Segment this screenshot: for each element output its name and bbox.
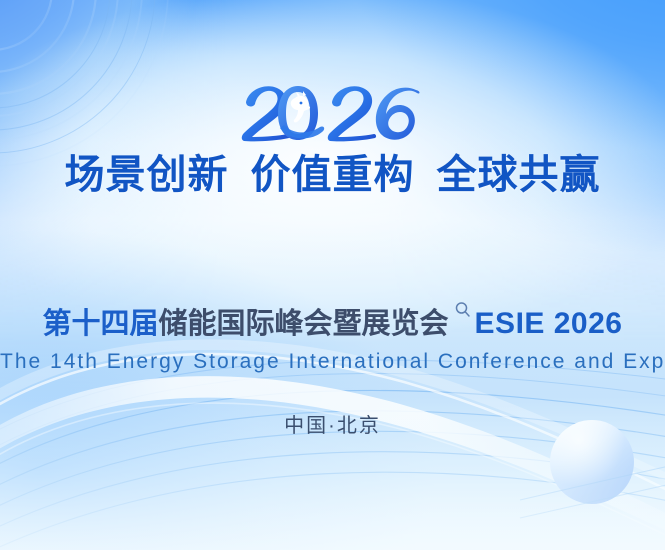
conference-title: 第十四届储能国际峰会暨展览会ESIE 2026 (0, 300, 665, 342)
slogan-segment-2: 价值重构 (251, 152, 415, 199)
digit-0-ring (278, 86, 324, 140)
title-chinese-main: 储能国际峰会暨展览会 (159, 300, 449, 342)
conference-subtitle-en: The 14th Energy Storage International Co… (0, 350, 665, 374)
year-logo (0, 78, 665, 148)
digit-6 (375, 88, 419, 140)
slogan-segment-3: 全球共赢 (437, 152, 601, 199)
magnifier-icon (452, 300, 474, 329)
event-poster: 场景创新价值重构全球共赢 第十四届储能国际峰会暨展览会ESIE 2026 The… (0, 0, 665, 550)
slogan-segment-1: 场景创新 (65, 152, 229, 199)
event-location: 中国·北京 (0, 409, 665, 438)
poster-content: 场景创新价值重构全球共赢 第十四届储能国际峰会暨展览会ESIE 2026 The… (0, 0, 665, 550)
title-edition-prefix: 第十四届 (43, 300, 159, 342)
year-2026-brush-logo (240, 82, 426, 144)
title-esie-2026: ESIE 2026 (475, 307, 623, 341)
poster-slogan: 场景创新价值重构全球共赢 (0, 152, 665, 199)
digit-2-second (327, 86, 375, 141)
